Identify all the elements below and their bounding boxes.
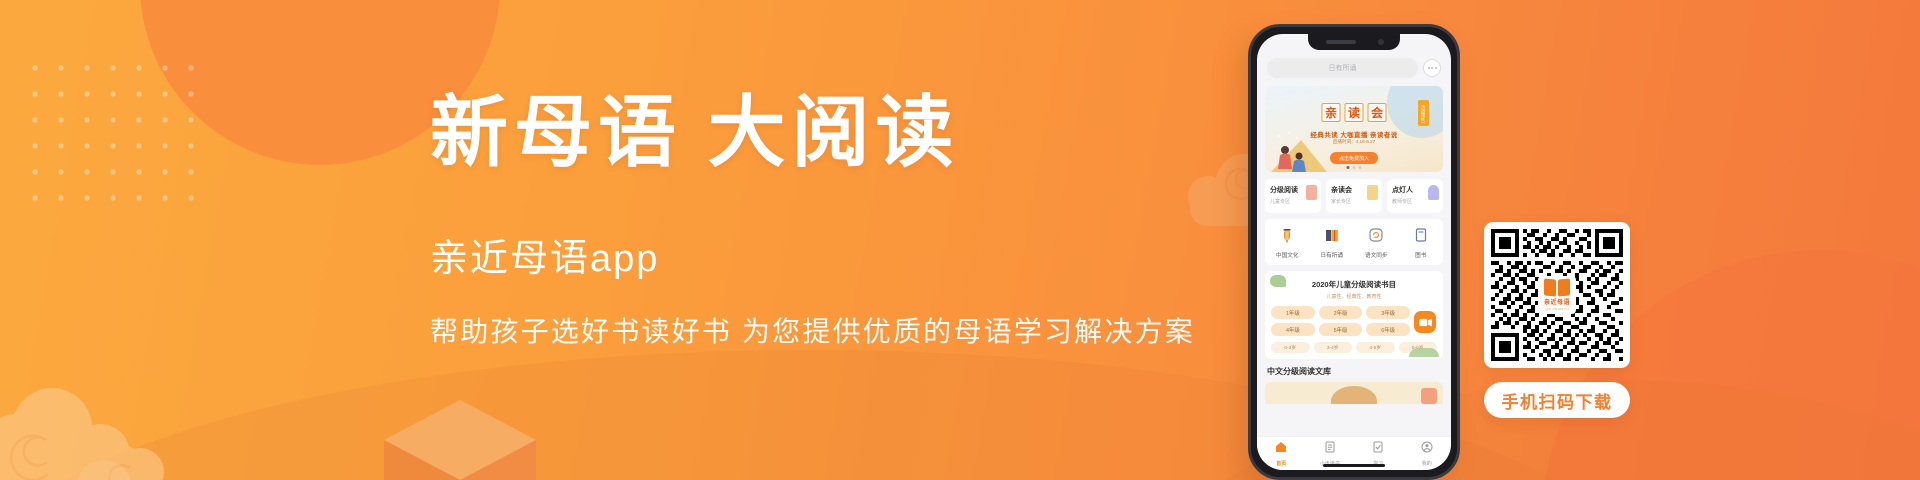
decor-3d-box: [380, 394, 540, 480]
check-icon: [1372, 441, 1384, 453]
hero-side-tag: 活动预告: [1418, 100, 1429, 126]
phone-mockup: 日有所诵 活动预告 亲 读: [1248, 24, 1460, 480]
hero-title-char-3: 会: [1368, 103, 1387, 122]
qr-logo-pinyin: QIN JIN MU YU: [1545, 307, 1569, 311]
app-hero-banner[interactable]: 活动预告 亲 读 会 经典共读 大咖直播 亲读者说 直播时间：4.16-5.27…: [1265, 86, 1443, 172]
tab-profile[interactable]: 我的: [1403, 441, 1452, 467]
home-icon: [1275, 441, 1287, 453]
hero-title-char-2: 读: [1345, 103, 1364, 122]
hero-subtitle: 经典共读 大咖直播 亲读者说: [1310, 129, 1397, 139]
cloud-motif-small-icon: [60, 440, 200, 480]
quick-icon-language-sync[interactable]: 语文同步: [1354, 227, 1399, 259]
category-card-teacher[interactable]: 点灯人 教师专区: [1387, 179, 1443, 213]
age-chip[interactable]: 0-3岁: [1271, 342, 1310, 353]
hero-date: 直播时间：4.16-5.27: [1333, 139, 1375, 145]
library-card[interactable]: [1265, 382, 1443, 404]
grade-chip[interactable]: 5年级: [1319, 323, 1363, 336]
category-card-graded-reading[interactable]: 分级阅读 儿童专区: [1265, 179, 1321, 213]
decor-dot-grid: [22, 55, 212, 215]
booklist-title: 2020年儿童分级阅读书目: [1271, 279, 1437, 290]
library-title: 中文分级阅读文库: [1267, 366, 1441, 377]
quick-icon-daily-recite[interactable]: 日有所诵: [1310, 227, 1355, 259]
download-button[interactable]: 手机扫码下载: [1484, 382, 1630, 418]
qr-logo-name: 亲近母语: [1544, 297, 1570, 306]
age-chip[interactable]: 3-4岁: [1314, 342, 1353, 353]
app-booklist-card[interactable]: 2020年儿童分级阅读书目 儿童性、经典性、教育性 1年级 2年级 3年级 4年…: [1265, 271, 1443, 359]
book-icon: [1413, 227, 1429, 243]
quick-icon-label: 图书: [1399, 251, 1444, 259]
more-dots-icon[interactable]: [1423, 59, 1441, 77]
qr-code[interactable]: 亲近母语 QIN JIN MU YU: [1484, 222, 1630, 368]
note-icon: [1367, 185, 1378, 200]
booklist-subtitle: 儿童性、经典性、教育性: [1271, 293, 1437, 300]
app-name: 亲近母语app: [430, 227, 1170, 282]
promo-banner: 新母语 大阅读 亲近母语app 帮助孩子选好书读好书 为您提供优质的母语学习解决…: [0, 0, 1920, 480]
app-search-row: 日有所诵: [1267, 58, 1441, 78]
tab-study[interactable]: 学习: [1354, 441, 1403, 467]
book-logo-icon: [1544, 279, 1570, 296]
grade-chip[interactable]: 4年级: [1271, 323, 1315, 336]
hero-join-button[interactable]: 点击免费加入: [1330, 152, 1378, 164]
grade-chip[interactable]: 6年级: [1366, 323, 1410, 336]
phone-notch: [1308, 34, 1400, 50]
home-indicator: [1323, 464, 1385, 467]
library-arc-decor: [1331, 386, 1377, 404]
quick-icon-books[interactable]: 图书: [1399, 227, 1444, 259]
quick-icon-chinese-culture[interactable]: 中国文化: [1265, 227, 1310, 259]
video-play-icon[interactable]: [1414, 311, 1436, 333]
sync-icon: [1368, 227, 1384, 243]
search-input[interactable]: 日有所诵: [1267, 58, 1418, 78]
grade-chip[interactable]: 1年级: [1271, 306, 1315, 319]
book-open-icon: [1324, 227, 1340, 243]
quick-icon-label: 语文同步: [1354, 251, 1399, 259]
list-icon: [1324, 441, 1336, 453]
hero-carousel-dots[interactable]: [1347, 166, 1362, 169]
app-category-cards: 分级阅读 儿童专区 亲读会 家长专区 点灯人 教师专区: [1265, 179, 1443, 213]
user-icon: [1421, 441, 1433, 453]
hand-icon: [1428, 185, 1439, 200]
hero-title: 亲 读 会: [1322, 103, 1387, 122]
download-cta-group: 亲近母语 QIN JIN MU YU 手机扫码下载: [1484, 222, 1630, 418]
quick-icon-label: 中国文化: [1265, 251, 1310, 259]
age-chip[interactable]: 4-5岁: [1356, 342, 1395, 353]
tab-label: 首页: [1257, 460, 1306, 467]
category-card-parent-club[interactable]: 亲读会 家长专区: [1326, 179, 1382, 213]
tagline: 帮助孩子选好书读好书 为您提供优质的母语学习解决方案: [430, 310, 1170, 350]
library-square-decor: [1421, 388, 1437, 404]
cloud-motif-icon: [0, 376, 200, 480]
qr-center-logo: 亲近母语 QIN JIN MU YU: [1538, 276, 1576, 314]
bookmark-icon: [1306, 185, 1317, 200]
banner-copy: 新母语 大阅读 亲近母语app 帮助孩子选好书读好书 为您提供优质的母语学习解决…: [430, 92, 1170, 350]
tab-reading-log[interactable]: 小步读书: [1306, 441, 1355, 467]
decor-hill-small: [1409, 348, 1439, 357]
page-title: 新母语 大阅读: [430, 92, 1170, 173]
tab-label: 我的: [1403, 460, 1452, 467]
grade-chip[interactable]: 2年级: [1319, 306, 1363, 319]
phone-screen: 日有所诵 活动预告 亲 读: [1257, 34, 1451, 470]
lantern-icon: [1279, 227, 1295, 243]
tab-home[interactable]: 首页: [1257, 441, 1306, 467]
booklist-grade-chips: 1年级 2年级 3年级 4年级 5年级 6年级: [1271, 306, 1437, 336]
grade-chip[interactable]: 3年级: [1366, 306, 1410, 319]
decor-leaf: [1270, 275, 1286, 287]
hero-title-char-1: 亲: [1322, 103, 1341, 122]
app-quick-icons: 中国文化 日有所诵 语文同步: [1265, 219, 1443, 265]
quick-icon-label: 日有所诵: [1310, 251, 1355, 259]
